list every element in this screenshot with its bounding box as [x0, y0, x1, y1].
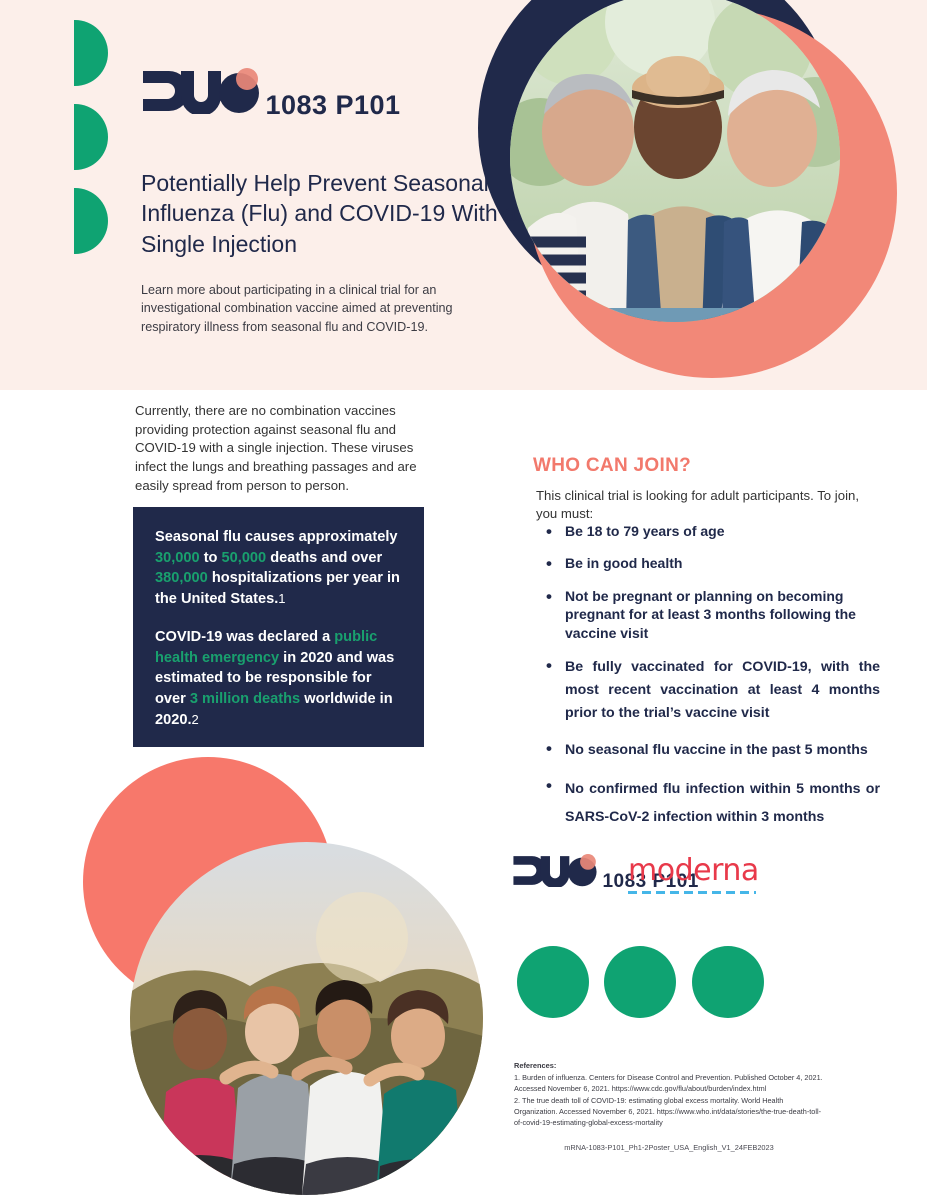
- reference-item: 2. The true death toll of COVID-19: esti…: [514, 1096, 824, 1129]
- footer-document-code: mRNA-1083-P101_Ph1-2Poster_USA_English_V…: [514, 1143, 824, 1152]
- moderna-wordmark: moderna: [628, 856, 760, 886]
- duo-wordmark-icon: [141, 68, 261, 114]
- list-item: No confirmed flu infection within 5 mont…: [540, 776, 880, 831]
- green-dots-decoration: [517, 946, 775, 1023]
- stat-value-3-million-deaths: 3 million deaths: [190, 691, 300, 707]
- intro-paragraph: Currently, there are no combination vacc…: [135, 402, 435, 496]
- references-heading: References:: [514, 1061, 556, 1070]
- hero-banner: 1083 P101 Potentially Help Prevent Seaso…: [0, 0, 927, 390]
- duo-logo: 1083 P101: [141, 68, 401, 119]
- reference-marker-1: 1: [278, 591, 285, 606]
- green-circle-icon: [517, 946, 589, 1018]
- references-section: References: 1. Burden of influenza. Cent…: [514, 1060, 824, 1130]
- list-item: Be 18 to 79 years of age: [540, 522, 880, 540]
- green-half-disc-icon: [74, 104, 108, 170]
- list-item: Be fully vaccinated for COVID-19, with t…: [540, 656, 880, 725]
- page-title: Potentially Help Prevent Seasonal Influe…: [141, 168, 521, 259]
- list-item: Not be pregnant or planning on becoming …: [540, 587, 880, 642]
- moderna-logo: moderna: [628, 856, 760, 894]
- duo-logo-subtext: 1083 P101: [265, 90, 400, 120]
- hero-photo: [510, 0, 840, 322]
- hero-subtitle: Learn more about participating in a clin…: [141, 281, 501, 336]
- green-circle-icon: [692, 946, 764, 1018]
- stat-value-30000: 30,000: [155, 550, 200, 566]
- green-circle-icon: [604, 946, 676, 1018]
- eligibility-list: Be 18 to 79 years of age Be in good heal…: [540, 522, 880, 846]
- green-half-disc-icon: [74, 188, 108, 254]
- who-can-join-lead: This clinical trial is looking for adult…: [536, 487, 881, 524]
- reference-item: 1. Burden of influenza. Centers for Dise…: [514, 1073, 824, 1095]
- green-half-disc-icon: [74, 20, 108, 86]
- who-can-join-heading: WHO CAN JOIN?: [533, 455, 691, 477]
- stat-covid: COVID-19 was declared a public health em…: [155, 627, 402, 731]
- stat-value-50000: 50,000: [222, 550, 267, 566]
- reference-marker-2: 2: [192, 712, 199, 727]
- duo-wordmark-icon: [512, 854, 598, 887]
- statistics-box: Seasonal flu causes approximately 30,000…: [133, 507, 424, 747]
- stat-value-380000: 380,000: [155, 570, 208, 586]
- bottom-photo: [130, 842, 483, 1195]
- list-item: No seasonal flu vaccine in the past 5 mo…: [540, 739, 880, 762]
- moderna-dash-underline-icon: [628, 891, 756, 894]
- list-item: Be in good health: [540, 554, 880, 572]
- stat-flu: Seasonal flu causes approximately 30,000…: [155, 527, 402, 610]
